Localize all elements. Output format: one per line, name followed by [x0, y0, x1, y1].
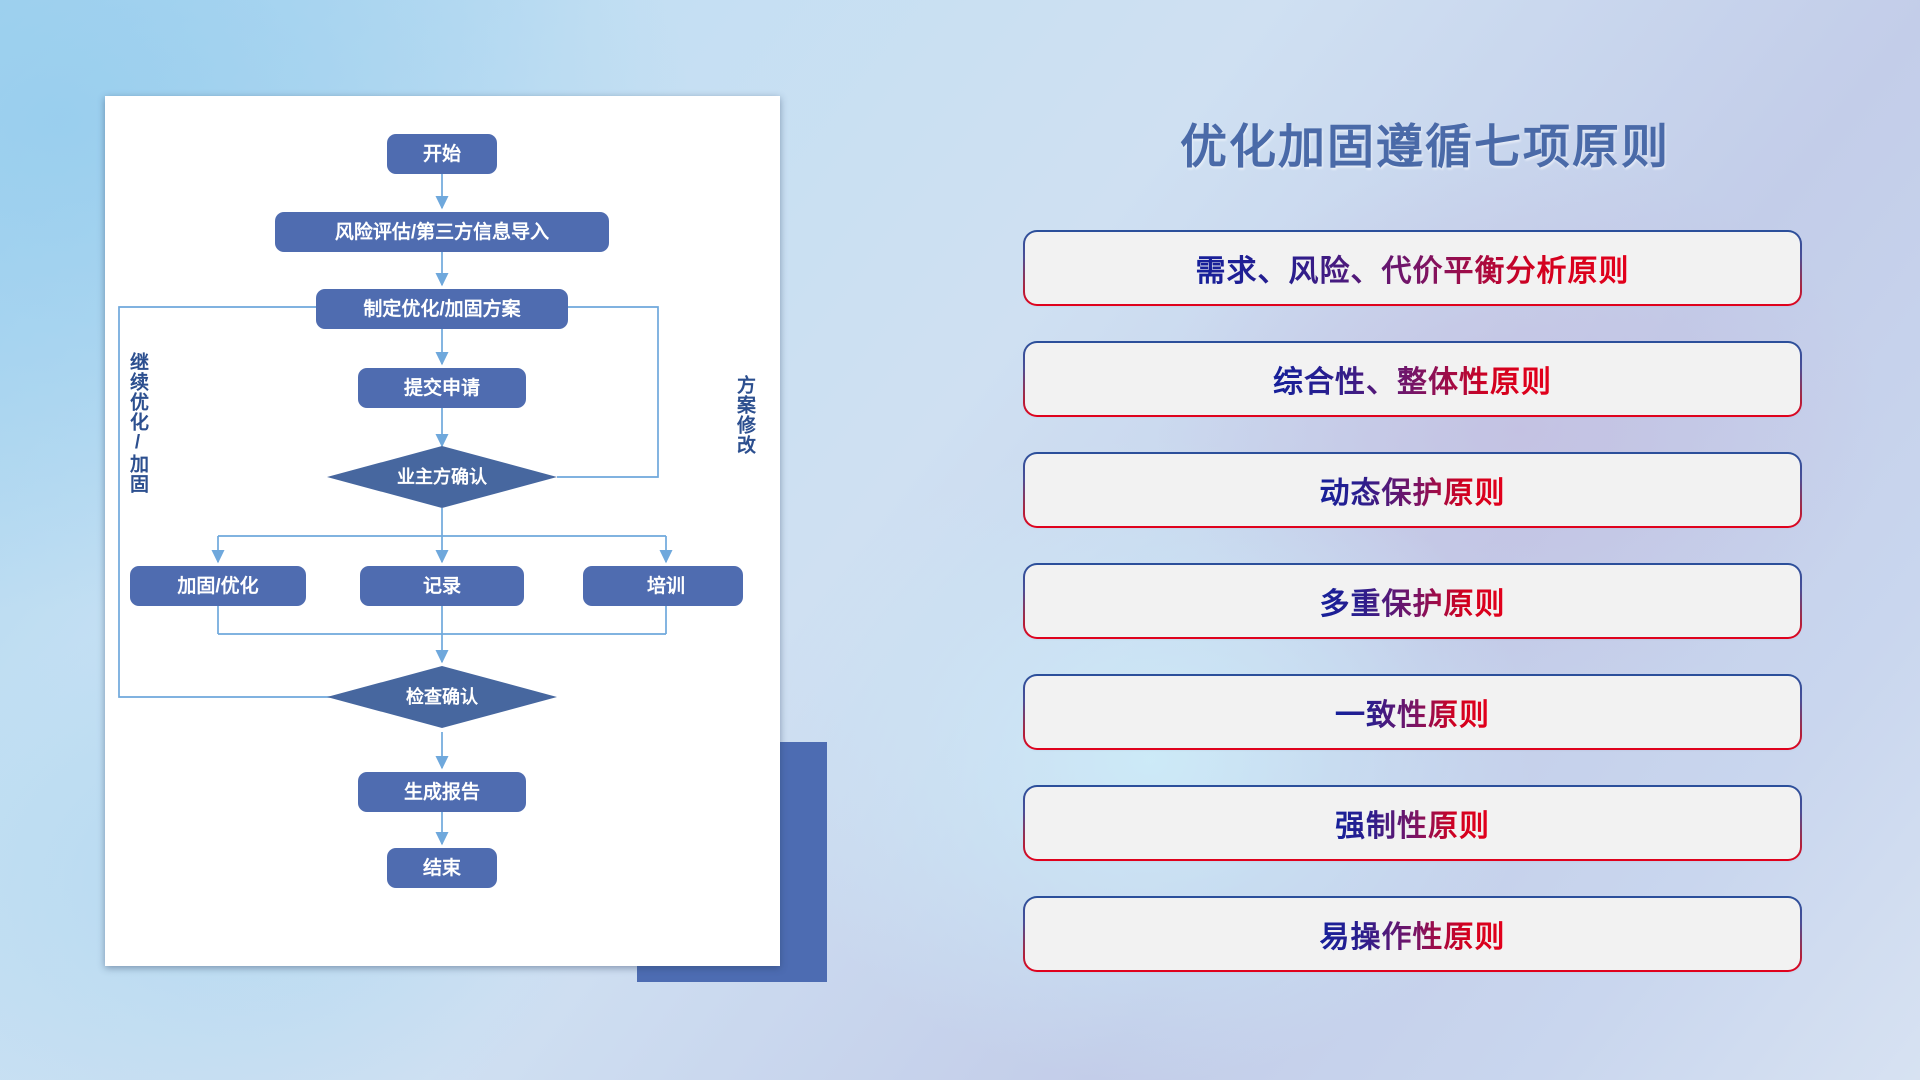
flow-node-train[interactable]: 培训: [583, 566, 743, 606]
principle-label: 需求、风险、代价平衡分析原则: [1196, 246, 1630, 290]
flow-node-record[interactable]: 记录: [360, 566, 524, 606]
flow-node-reinforce[interactable]: 加固/优化: [130, 566, 306, 606]
edge-label-left-loop: 继续优化/加固: [128, 352, 147, 494]
flow-node-owner-confirm[interactable]: 业主方确认: [327, 446, 557, 508]
flow-node-label: 开始: [423, 142, 461, 165]
slide-root: 开始 风险评估/第三方信息导入 制定优化/加固方案 提交申请 业主方确认: [0, 0, 1920, 1080]
principle-card-5[interactable]: 一致性原则: [1025, 676, 1800, 748]
flow-node-start[interactable]: 开始: [387, 134, 497, 174]
flow-node-end[interactable]: 结束: [387, 848, 497, 888]
flow-node-label: 提交申请: [404, 376, 480, 399]
flowchart-card: 开始 风险评估/第三方信息导入 制定优化/加固方案 提交申请 业主方确认: [105, 96, 780, 966]
flowchart-svg: 开始 风险评估/第三方信息导入 制定优化/加固方案 提交申请 业主方确认: [105, 96, 780, 966]
principle-card-2[interactable]: 综合性、整体性原则: [1025, 343, 1800, 415]
flow-node-label: 业主方确认: [397, 466, 488, 487]
principle-card-1[interactable]: 需求、风险、代价平衡分析原则: [1025, 232, 1800, 304]
principle-card-6[interactable]: 强制性原则: [1025, 787, 1800, 859]
principle-card-7[interactable]: 易操作性原则: [1025, 898, 1800, 970]
flow-node-check[interactable]: 检查确认: [327, 666, 557, 728]
principle-card-4[interactable]: 多重保护原则: [1025, 565, 1800, 637]
flow-node-label: 制定优化/加固方案: [363, 297, 521, 320]
principle-label: 多重保护原则: [1320, 579, 1506, 623]
page-title: 优化加固遵循七项原则: [1030, 108, 1820, 177]
principle-label: 综合性、整体性原则: [1273, 357, 1552, 401]
connectors: [119, 174, 666, 844]
flow-node-label: 风险评估/第三方信息导入: [335, 220, 549, 243]
flow-node-label: 生成报告: [404, 780, 480, 803]
flow-node-label: 培训: [647, 574, 685, 597]
principle-label: 易操作性原则: [1320, 912, 1506, 956]
principle-label: 一致性原则: [1335, 690, 1490, 734]
flow-node-plan[interactable]: 制定优化/加固方案: [316, 289, 568, 329]
flow-node-label: 加固/优化: [176, 574, 258, 597]
flow-node-submit[interactable]: 提交申请: [358, 368, 526, 408]
principles-list: 需求、风险、代价平衡分析原则 综合性、整体性原则 动态保护原则 多重保护原则 一…: [1025, 232, 1800, 1009]
flow-node-label: 结束: [423, 856, 462, 879]
edge-label-right-loop: 方案修改: [735, 375, 754, 455]
principle-card-3[interactable]: 动态保护原则: [1025, 454, 1800, 526]
flow-node-risk[interactable]: 风险评估/第三方信息导入: [275, 212, 609, 252]
flow-node-report[interactable]: 生成报告: [358, 772, 526, 812]
flow-node-label: 记录: [423, 575, 461, 597]
principle-label: 动态保护原则: [1320, 468, 1506, 512]
flow-node-label: 检查确认: [406, 686, 479, 707]
principle-label: 强制性原则: [1335, 801, 1490, 845]
